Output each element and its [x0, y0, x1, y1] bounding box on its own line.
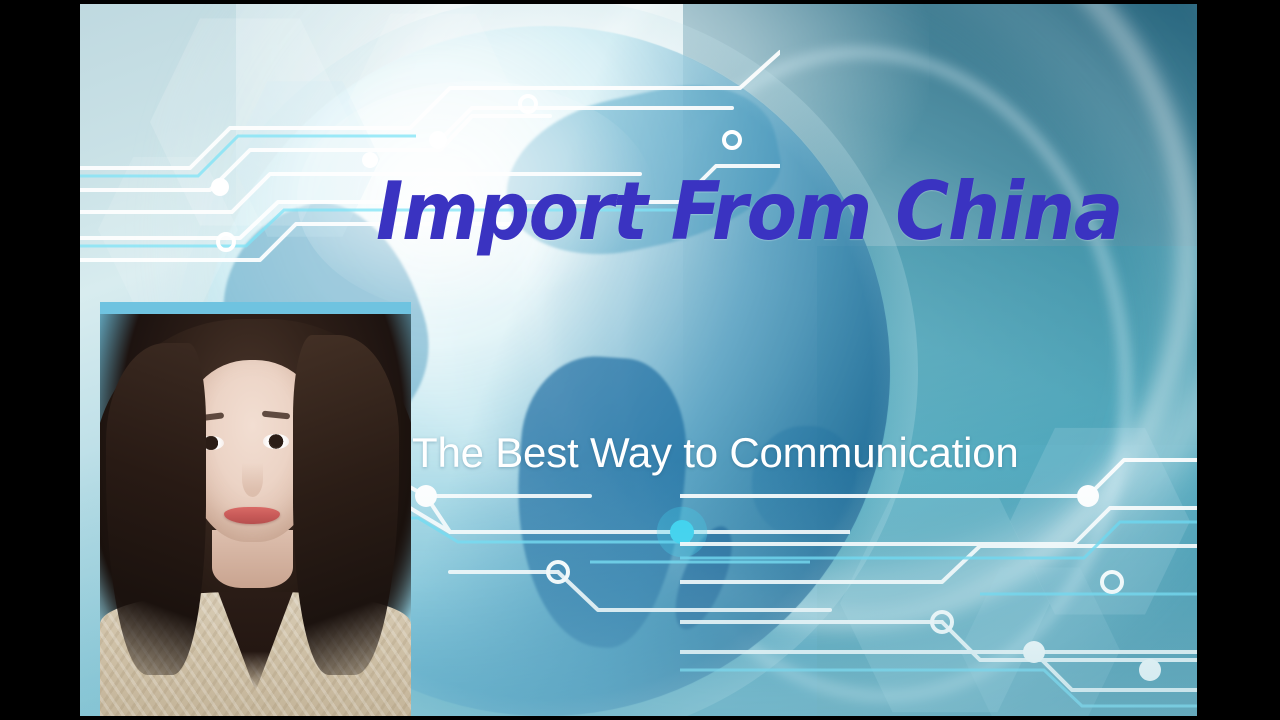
- presenter-pupil-left: [204, 437, 217, 449]
- page-title: Import From China: [376, 172, 1057, 252]
- letterbox-bar-left: [0, 0, 80, 720]
- presenter-pupil-right: [270, 435, 283, 447]
- presenter-hair-strand-left: [106, 343, 206, 674]
- presenter-hair-strand-right: [293, 335, 399, 674]
- letterbox-bar-right: [1197, 0, 1280, 720]
- presenter-nose: [242, 459, 264, 496]
- letterbox-bar-bottom: [0, 716, 1280, 720]
- presenter-webcam-overlay: [100, 302, 411, 716]
- video-player-frame: Import From China The Best Way to Commun…: [0, 0, 1280, 720]
- page-subtitle: The Best Way to Communication: [412, 432, 1019, 474]
- video-content-area: Import From China The Best Way to Commun…: [80, 4, 1197, 716]
- letterbox-bar-top: [0, 0, 1280, 4]
